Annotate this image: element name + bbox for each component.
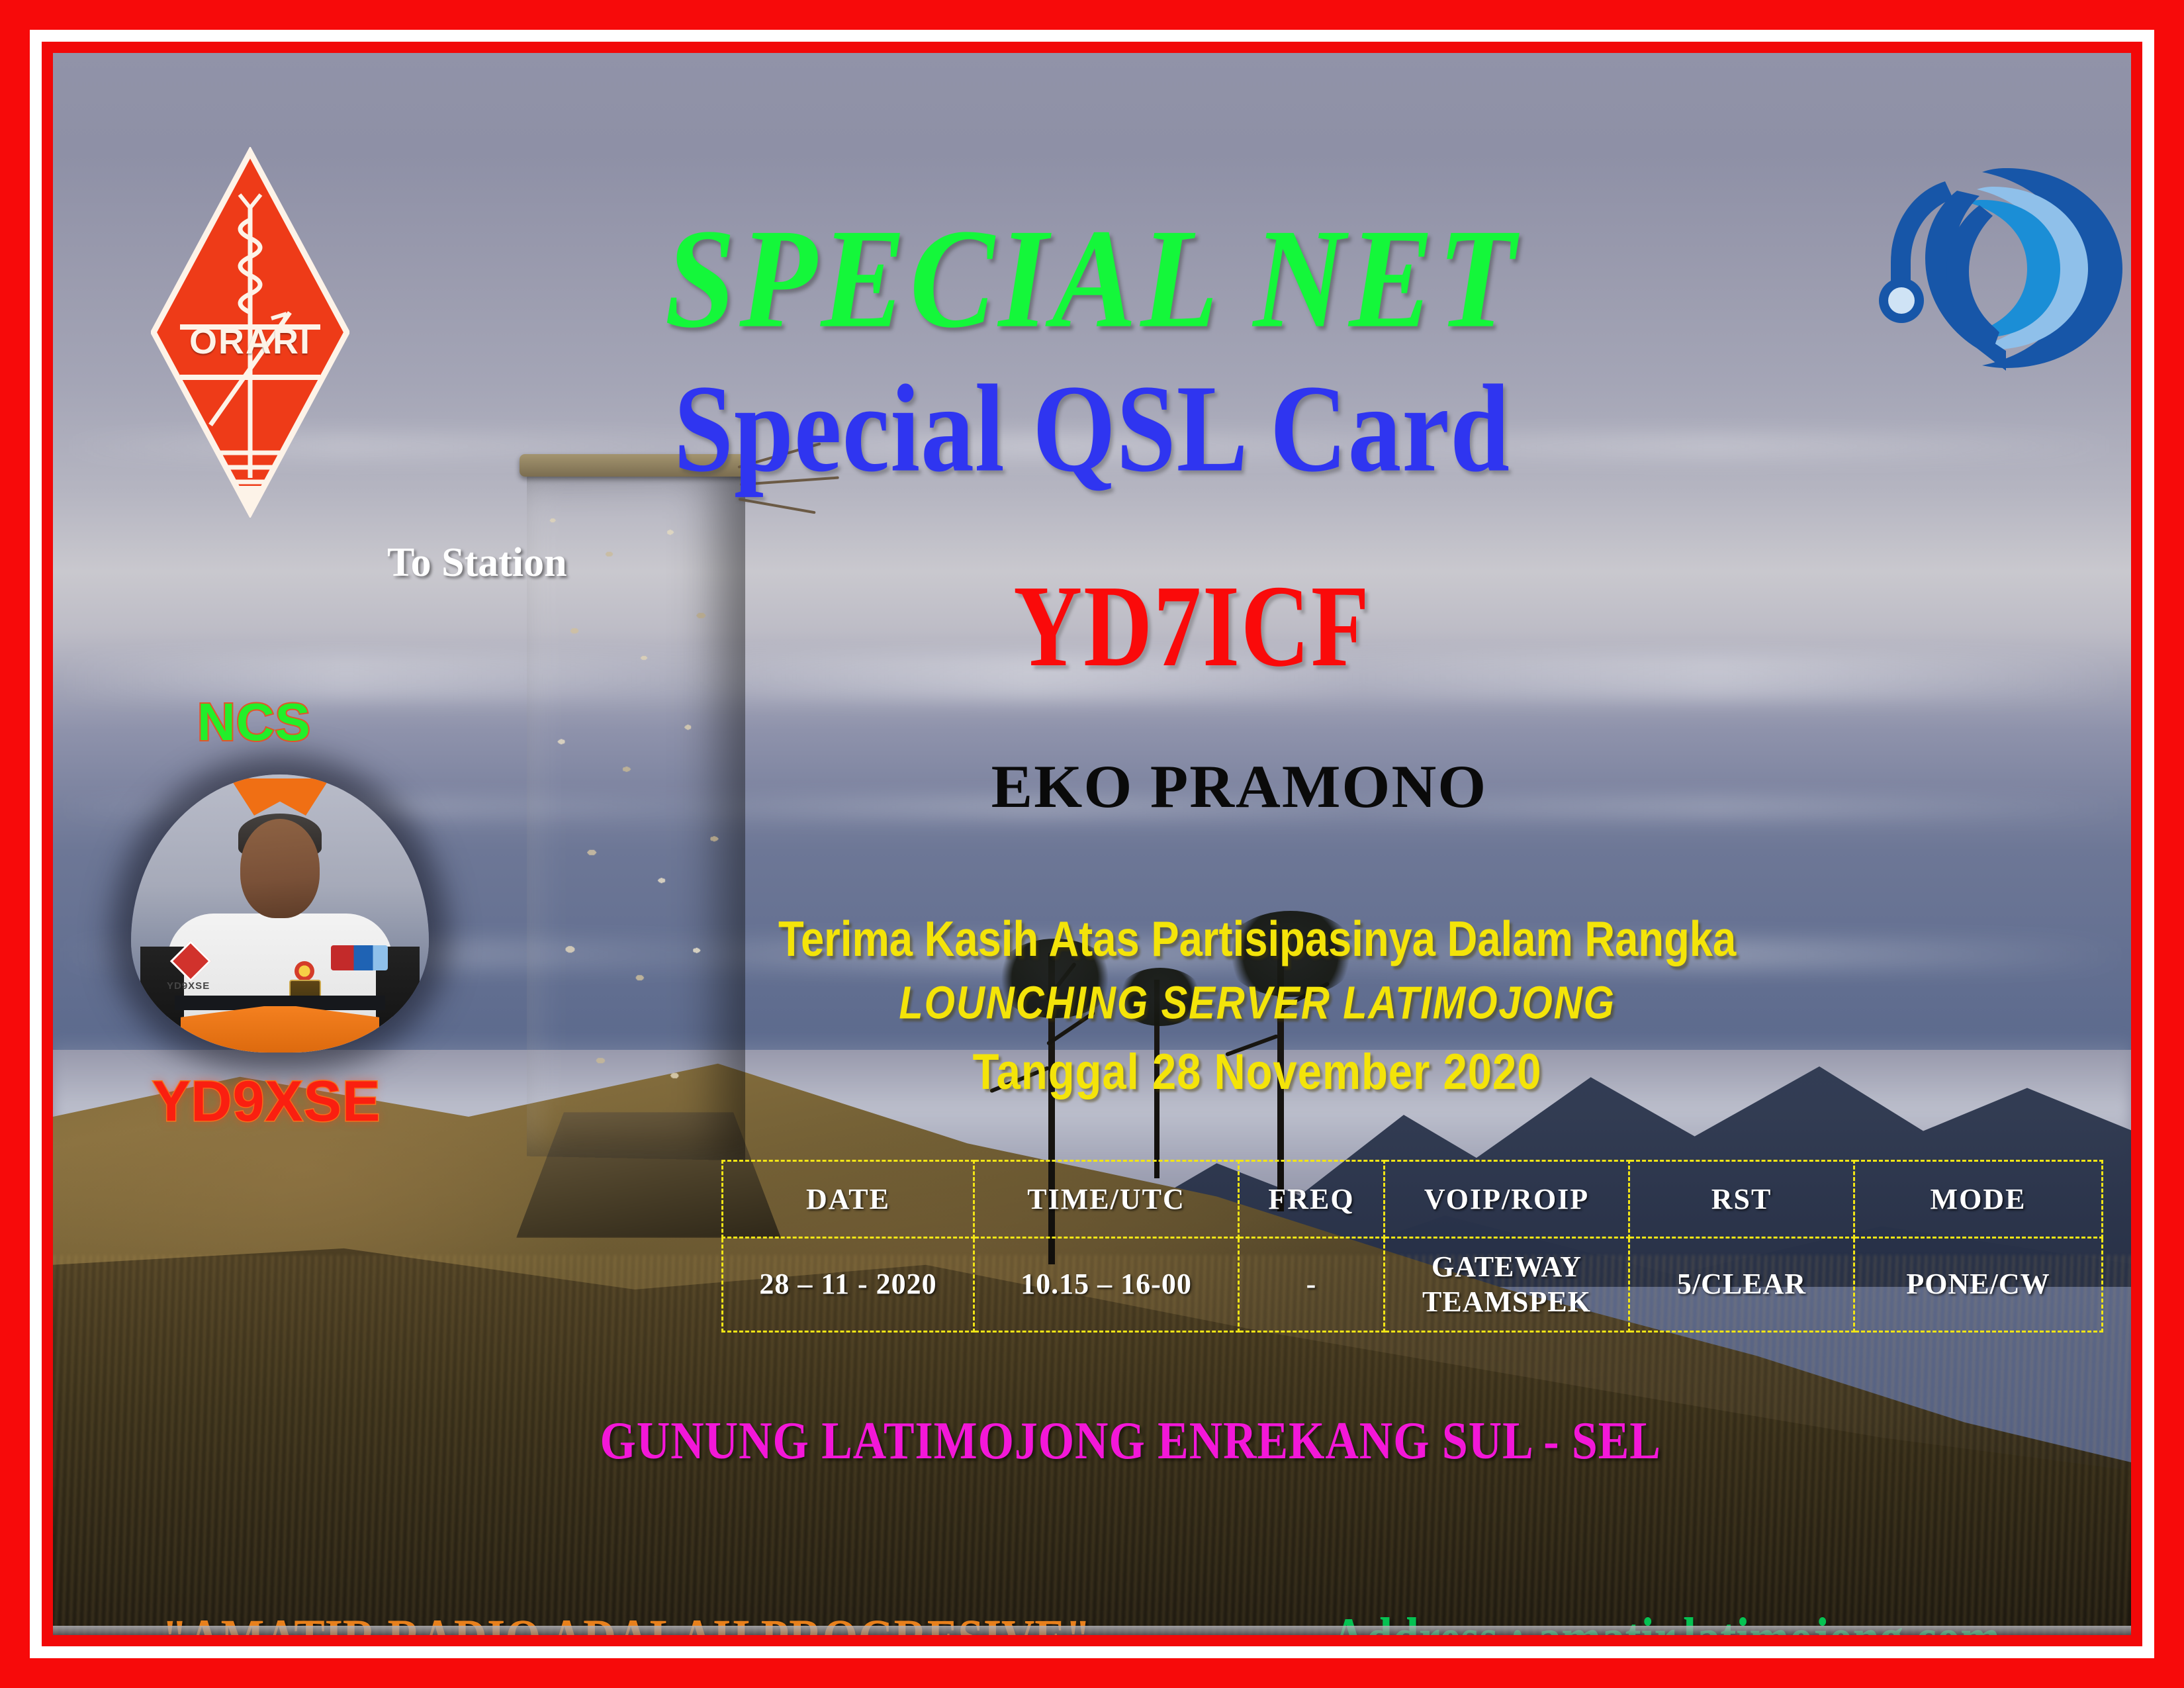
operator-face [240, 819, 320, 918]
thanks-line-3: Tanggal 28 November 2020 [95, 1043, 2089, 1100]
title-special-net: SPECIAL NET [53, 197, 2131, 361]
cell-rst: 5/CLEAR [1629, 1238, 1854, 1332]
column-header-voip: VOIP/ROIP [1385, 1161, 1629, 1238]
column-header-date: DATE [723, 1161, 974, 1238]
cell-voip-line1: GATEWAY [1385, 1250, 1628, 1285]
to-station-label: To Station [387, 539, 567, 586]
cell-voip-line2: TEAMSPEK [1385, 1285, 1628, 1320]
column-header-time: TIME/UTC [974, 1161, 1239, 1238]
photo-bottom-rule [53, 1626, 2131, 1635]
station-callsign: YD7ICF [1013, 559, 1371, 694]
thanks-line-2: LOUNCHING SERVER LATIMOJONG [95, 977, 2089, 1030]
uniform-collar [230, 778, 330, 816]
title-special-qsl-card: Special QSL Card [115, 357, 2069, 501]
qso-log-table: DATE TIME/UTC FREQ VOIP/ROIP RST MODE 28… [721, 1160, 2103, 1333]
thanks-line-1: Terima Kasih Atas Partisipasinya Dalam R… [95, 910, 2089, 968]
cell-voip: GATEWAY TEAMSPEK [1385, 1238, 1629, 1332]
column-header-mode: MODE [1854, 1161, 2103, 1238]
cell-time: 10.15 – 16-00 [974, 1238, 1239, 1332]
cell-freq: - [1239, 1238, 1385, 1332]
location-line: GUNUNG LATIMOJONG ENREKANG SUL - SEL [84, 1410, 2100, 1472]
column-header-rst: RST [1629, 1161, 1854, 1238]
station-operator-name: EKO PRAMONO [991, 751, 1488, 821]
column-header-freq: FREQ [1239, 1161, 1385, 1238]
card-photo-background: ORARI YD9XSE [53, 53, 2131, 1635]
table-row: 28 – 11 - 2020 10.15 – 16-00 - GATEWAY T… [723, 1238, 2103, 1332]
qsl-card: ORARI YD9XSE [0, 0, 2184, 1688]
table-header-row: DATE TIME/UTC FREQ VOIP/ROIP RST MODE [723, 1161, 2103, 1238]
cell-mode: PONE/CW [1854, 1238, 2103, 1332]
ncs-label: NCS [197, 692, 311, 753]
cell-date: 28 – 11 - 2020 [723, 1238, 974, 1332]
